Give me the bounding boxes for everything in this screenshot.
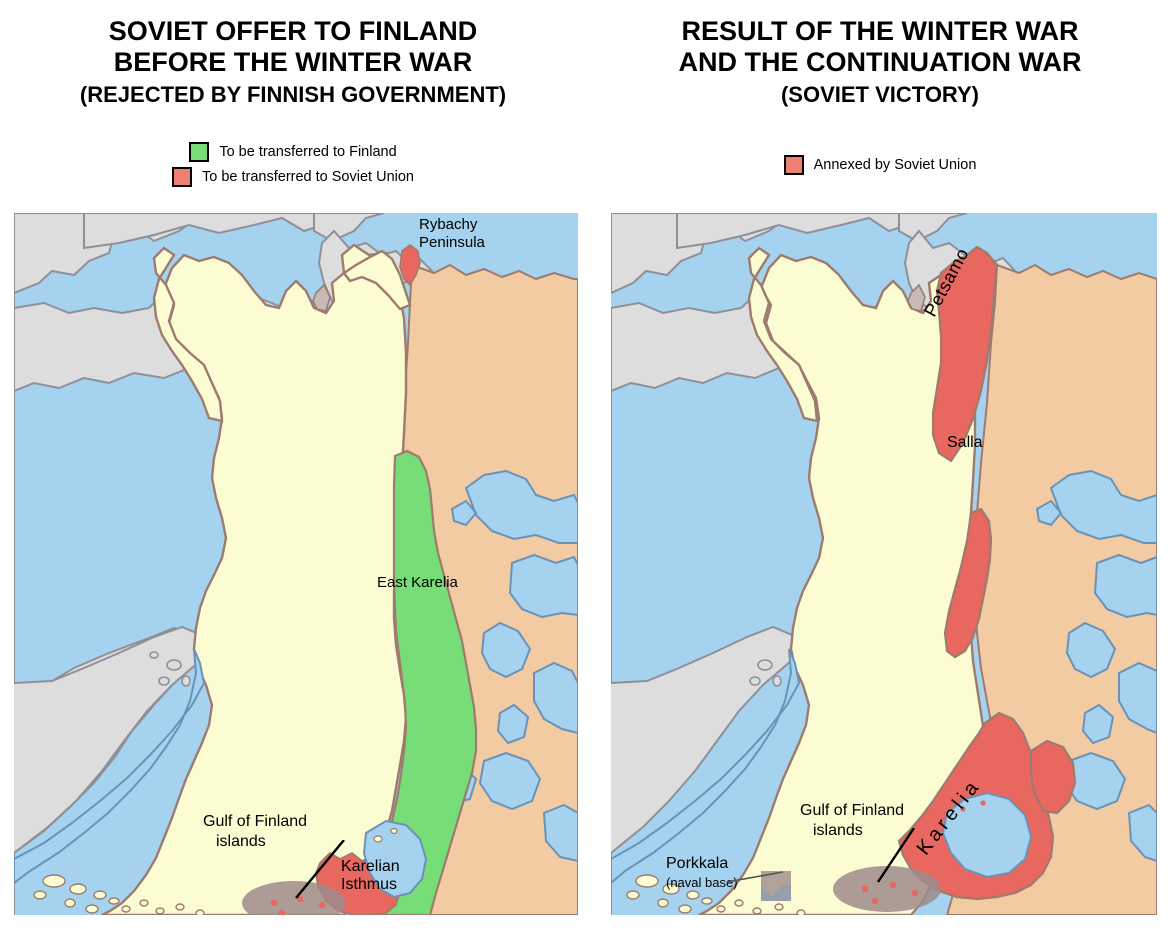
leader-line-porkkala bbox=[727, 868, 787, 886]
legend-label-annexed: Annexed by Soviet Union bbox=[814, 157, 977, 173]
left-title-line-2: BEFORE THE WINTER WAR bbox=[0, 47, 586, 78]
panel-war-result: RESULT OF THE WINTER WAR AND THE CONTINU… bbox=[587, 0, 1173, 929]
label-gulf-islands-left-1: Gulf of Finland bbox=[203, 813, 307, 831]
label-east-karelia: East Karelia bbox=[377, 574, 458, 592]
legend-label-finland: To be transferred to Finland bbox=[219, 144, 396, 160]
right-title-line-2: AND THE CONTINUATION WAR bbox=[587, 47, 1173, 78]
left-map-svg bbox=[14, 213, 578, 915]
legend-row-soviet: To be transferred to Soviet Union bbox=[0, 167, 586, 187]
label-gulf-islands-left-2: islands bbox=[216, 833, 266, 851]
leader-line-gulf-islands-right bbox=[864, 828, 924, 886]
right-legend: Annexed by Soviet Union bbox=[587, 155, 1173, 180]
legend-swatch-green bbox=[189, 142, 209, 162]
legend-row-finland: To be transferred to Finland bbox=[0, 142, 586, 162]
label-salla: Salla bbox=[947, 434, 983, 452]
label-gulf-islands-right-2: islands bbox=[813, 822, 863, 840]
label-porkkala: Porkkala bbox=[666, 855, 728, 873]
label-rybachy-peninsula: RybachyPeninsula bbox=[419, 216, 485, 252]
right-title-block: RESULT OF THE WINTER WAR AND THE CONTINU… bbox=[587, 16, 1173, 109]
label-gulf-islands-right-1: Gulf of Finland bbox=[800, 802, 904, 820]
panel-soviet-offer: SOVIET OFFER TO FINLAND BEFORE THE WINTE… bbox=[0, 0, 586, 929]
label-karelian-isthmus-2: Isthmus bbox=[341, 876, 397, 894]
right-title-line-1: RESULT OF THE WINTER WAR bbox=[587, 16, 1173, 47]
label-karelian-isthmus-1: Karelian bbox=[341, 858, 400, 876]
legend-swatch-annexed bbox=[784, 155, 804, 175]
left-title-block: SOVIET OFFER TO FINLAND BEFORE THE WINTE… bbox=[0, 16, 586, 109]
map-soviet-offer bbox=[14, 213, 578, 915]
left-title-line-1: SOVIET OFFER TO FINLAND bbox=[0, 16, 586, 47]
right-subtitle: (SOVIET VICTORY) bbox=[587, 80, 1173, 109]
left-subtitle: (REJECTED BY FINNISH GOVERNMENT) bbox=[0, 80, 586, 109]
legend-swatch-red bbox=[172, 167, 192, 187]
left-legend: To be transferred to Finland To be trans… bbox=[0, 142, 586, 192]
legend-row-annexed: Annexed by Soviet Union bbox=[587, 155, 1173, 175]
winter-war-map-figure: SOVIET OFFER TO FINLAND BEFORE THE WINTE… bbox=[0, 0, 1173, 929]
legend-label-soviet: To be transferred to Soviet Union bbox=[202, 169, 414, 185]
